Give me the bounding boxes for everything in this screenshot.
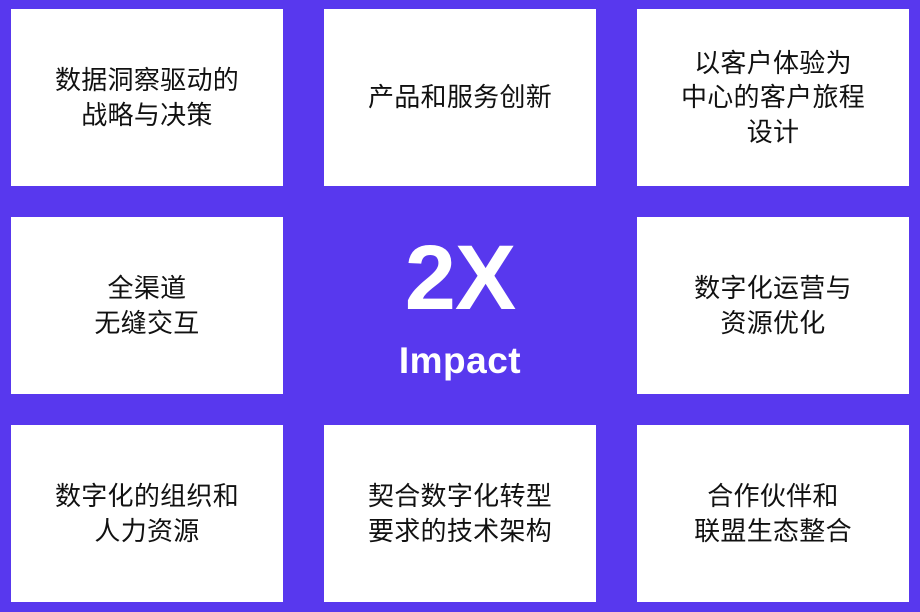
capability-card-label: 数字化运营与 资源优化 (637, 271, 909, 340)
impact-label: Impact (399, 342, 521, 379)
impact-value: 2X (405, 232, 516, 324)
capability-card-label: 以客户体验为 中心的客户旅程 设计 (637, 46, 909, 149)
capability-card-digital-operations[interactable]: 数字化运营与 资源优化 (637, 217, 909, 394)
capability-card-digital-organization-hr[interactable]: 数字化的组织和 人力资源 (11, 425, 283, 602)
impact-highlight: 2X Impact (324, 217, 596, 394)
capability-card-label: 合作伙伴和 联盟生态整合 (637, 479, 909, 548)
capability-card-partner-ecosystem[interactable]: 合作伙伴和 联盟生态整合 (637, 425, 909, 602)
capability-card-label: 契合数字化转型 要求的技术架构 (324, 479, 596, 548)
capability-grid: 数据洞察驱动的 战略与决策 产品和服务创新 以客户体验为 中心的客户旅程 设计 … (11, 9, 909, 603)
infographic-canvas: 数据洞察驱动的 战略与决策 产品和服务创新 以客户体验为 中心的客户旅程 设计 … (0, 0, 920, 612)
capability-card-omnichannel-interaction[interactable]: 全渠道 无缝交互 (11, 217, 283, 394)
capability-card-technology-architecture[interactable]: 契合数字化转型 要求的技术架构 (324, 425, 596, 602)
capability-card-customer-journey-design[interactable]: 以客户体验为 中心的客户旅程 设计 (637, 9, 909, 186)
capability-card-label: 数字化的组织和 人力资源 (11, 479, 283, 548)
capability-card-product-service-innovation[interactable]: 产品和服务创新 (324, 9, 596, 186)
capability-card-data-insights[interactable]: 数据洞察驱动的 战略与决策 (11, 9, 283, 186)
capability-card-label: 全渠道 无缝交互 (11, 271, 283, 340)
capability-card-label: 产品和服务创新 (324, 80, 596, 114)
capability-card-label: 数据洞察驱动的 战略与决策 (11, 63, 283, 132)
